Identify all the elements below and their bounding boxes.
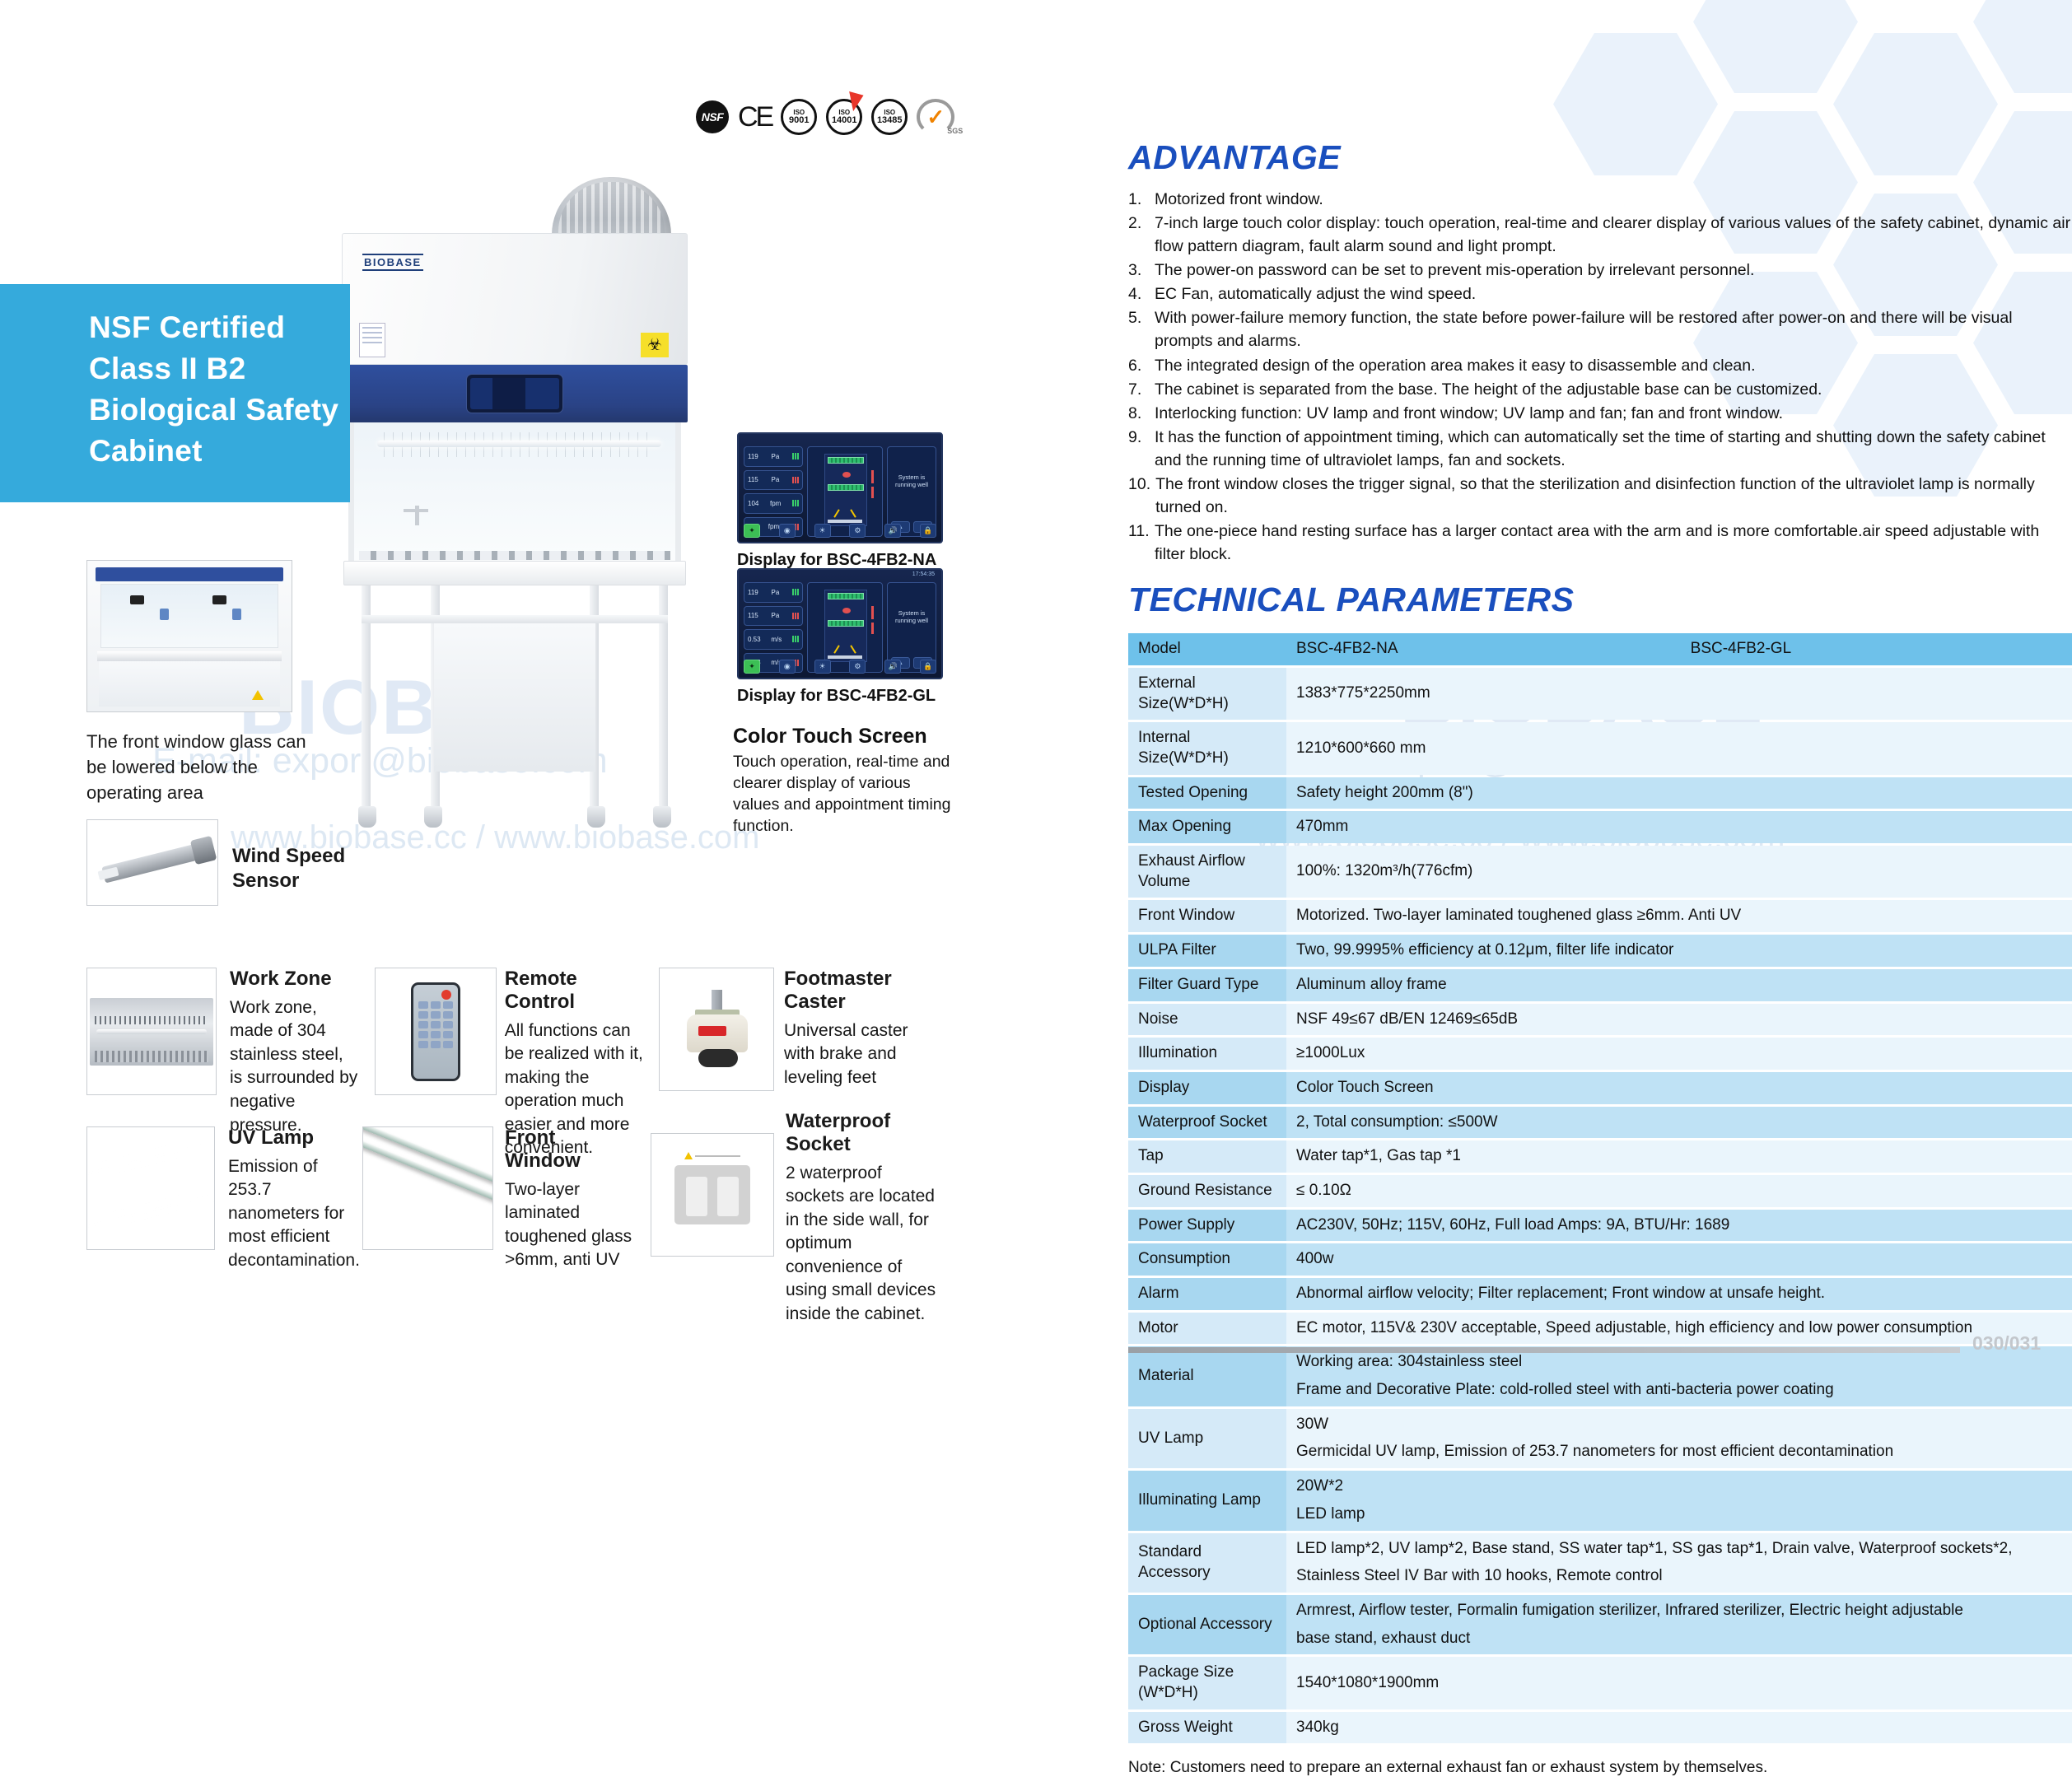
cabinet-control-band — [342, 365, 688, 422]
table-row: Front WindowMotorized. Two-layer laminat… — [1128, 900, 2072, 932]
work-zone-title: Work Zone — [230, 968, 358, 991]
feature-waterproof-socket: Waterproof Socket 2 waterproof sockets a… — [651, 1110, 939, 1326]
table-row: Filter Guard TypeAluminum alloy frame — [1128, 969, 2072, 1001]
spec-value: Aluminum alloy frame — [1286, 969, 2072, 1001]
uv-icon[interactable]: ☀ — [814, 524, 831, 538]
advantage-list: 1.Motorized front window. 2.7-inch large… — [1128, 188, 2072, 566]
advantage-item: 11.The one-piece hand resting surface ha… — [1128, 520, 2072, 566]
spec-value: Water tap*1, Gas tap *1 — [1286, 1140, 2072, 1173]
hero-line-1: NSF Certified — [89, 307, 350, 348]
feature-front-window: Front Window Two-layer laminated toughen… — [362, 1126, 634, 1272]
table-header-row: Model BSC-4FB2-NA BSC-4FB2-GL — [1128, 633, 2072, 665]
table-row: Waterproof Socket2, Total consumption: ≤… — [1128, 1107, 2072, 1139]
work-zone-text: Work zone, made of 304 stainless steel, … — [230, 996, 358, 1137]
display-gl-caption: Display for BSC-4FB2-GL — [737, 687, 943, 706]
remote-control-title: Remote Control — [505, 968, 646, 1014]
caster-wheel — [653, 806, 671, 828]
spec-key: Gross Weight — [1128, 1712, 1286, 1744]
lamp-icon[interactable]: ◉ — [779, 524, 796, 538]
advantage-item-number: 11. — [1128, 520, 1150, 566]
table-row: NoiseNSF 49≤67 dB/EN 12469≤65dB — [1128, 1004, 2072, 1036]
spec-key: Internal Size(W*D*H) — [1128, 722, 1286, 774]
certification-badges: NSF CE ISO 9001 ISO 14001 ISO 13485 ✓ SG… — [696, 99, 954, 135]
feature-work-zone: Work Zone Work zone, made of 304 stainle… — [86, 968, 358, 1137]
speaker-icon[interactable]: 🔊 — [884, 660, 901, 674]
lock-icon[interactable]: 🔒 — [920, 524, 936, 538]
display-panel-gl: 17:54:35 119 Pa 115 Pa 0.53 m/s — [737, 568, 943, 706]
spec-value: LED lamp*2, UV lamp*2, Base stand, SS wa… — [1286, 1533, 2072, 1593]
warning-triangle-icon — [684, 1152, 693, 1159]
uv-icon[interactable]: ☀ — [814, 660, 831, 674]
advantage-item-text: With power-failure memory function, the … — [1155, 306, 2072, 352]
spec-key: Tap — [1128, 1140, 1286, 1173]
header-model-na: BSC-4FB2-NA — [1286, 633, 1681, 665]
spec-value: 100%: 1320m³/h(776cfm) — [1286, 846, 2072, 898]
table-row: Max Opening470mm — [1128, 811, 2072, 843]
spec-key: Motor — [1128, 1313, 1286, 1345]
advantage-item-number: 5. — [1128, 306, 1150, 352]
waterproof-socket-thumbnail — [651, 1133, 774, 1257]
table-row: Material Working area: 304stainless stee… — [1128, 1346, 2072, 1406]
color-touch-screen-title: Color Touch Screen — [733, 725, 951, 749]
spec-value: 470mm — [1286, 811, 2072, 843]
nsf-icon: NSF — [696, 100, 729, 133]
remote-power-icon — [441, 990, 451, 1000]
settings-icon[interactable]: ⚙ — [849, 660, 866, 674]
settings-icon[interactable]: ⚙ — [849, 524, 866, 538]
sgs-label: SGS — [947, 127, 963, 135]
technical-heading: TECHNICAL PARAMETERS — [1128, 581, 2072, 619]
iso-14001-icon: ISO 14001 — [826, 99, 862, 135]
spec-key: Power Supply — [1128, 1210, 1286, 1242]
wind-speed-sensor-photo — [86, 819, 218, 906]
table-row: External Size(W*D*H)1383*775*2250mm — [1128, 668, 2072, 720]
table-row: Standard Accessory LED lamp*2, UV lamp*2… — [1128, 1533, 2072, 1593]
readout-gl-2-value: 115 — [748, 612, 758, 619]
readout-na-3-unit: fpm — [770, 500, 781, 507]
advantage-heading: ADVANTAGE — [1128, 138, 2072, 177]
sgs-icon: ✓ SGS — [917, 99, 954, 135]
advantage-item: 1.Motorized front window. — [1128, 188, 2072, 211]
readout-na-1-value: 119 — [748, 453, 758, 460]
spec-value: 20W*2 LED lamp — [1286, 1471, 2072, 1530]
readout-na-2-unit: Pa — [771, 476, 779, 483]
advantage-item-number: 1. — [1128, 188, 1150, 211]
spec-value: 1210*600*660 mm — [1286, 722, 2072, 774]
table-row: Illuminating Lamp 20W*2 LED lamp — [1128, 1471, 2072, 1530]
uv-lamp-thumbnail — [86, 1126, 215, 1250]
readout-gl-1-value: 119 — [748, 589, 758, 596]
advantage-item: 8.Interlocking function: UV lamp and fro… — [1128, 402, 2072, 425]
advantage-item-text: The cabinet is separated from the base. … — [1155, 378, 2072, 401]
table-row: UV Lamp 30W Germicidal UV lamp, Emission… — [1128, 1409, 2072, 1468]
spec-value-line-2: Frame and Decorative Plate: cold-rolled … — [1296, 1380, 2062, 1401]
readout-gl-2: 115 Pa — [744, 606, 803, 627]
readout-gl-3-value: 0.53 — [748, 636, 761, 643]
screen-gl: 17:54:35 119 Pa 115 Pa 0.53 m/s — [737, 568, 943, 679]
table-row: Gross Weight340kg — [1128, 1712, 2072, 1744]
advantage-item-number: 4. — [1128, 282, 1150, 305]
spec-value: Two, 99.9995% efficiency at 0.12μm, filt… — [1286, 935, 2072, 967]
readout-na-2-value: 115 — [748, 476, 758, 483]
spec-value: Safety height 200mm (8") — [1286, 777, 2072, 809]
spec-key: Optional Accessory — [1128, 1595, 1286, 1654]
spec-key: Consumption — [1128, 1243, 1286, 1276]
advantage-item: 5.With power-failure memory function, th… — [1128, 306, 2072, 352]
spec-value: Armrest, Airflow tester, Formalin fumiga… — [1286, 1595, 2072, 1654]
feature-footmaster-caster: Footmaster Caster Universal caster with … — [659, 968, 931, 1091]
technical-note: Note: Customers need to prepare an exter… — [1128, 1759, 2072, 1777]
cabinet-touch-panel — [466, 374, 563, 413]
footmaster-caster-title: Footmaster Caster — [784, 968, 922, 1014]
screen-na: 119 Pa 115 Pa 104 fpm 65 fpm — [737, 432, 943, 543]
advantage-item: 7.The cabinet is separated from the base… — [1128, 378, 2072, 401]
hero-title-banner: NSF Certified Class II B2 Biological Saf… — [0, 284, 350, 502]
front-window-thumbnail — [362, 1126, 493, 1250]
page-number: 030/031 — [1972, 1332, 2041, 1355]
color-touch-screen-block: Color Touch Screen Touch operation, real… — [733, 725, 951, 837]
remote-control-thumbnail — [375, 968, 497, 1095]
spec-value-line-2: base stand, exhaust duct — [1296, 1629, 2062, 1649]
advantage-item: 4.EC Fan, automatically adjust the wind … — [1128, 282, 2072, 305]
left-column: NSF CE ISO 9001 ISO 14001 ISO 13485 ✓ SG… — [0, 0, 1104, 1416]
spec-value-line-2: Germicidal UV lamp, Emission of 253.7 na… — [1296, 1442, 2062, 1462]
spec-value-line-2: LED lamp — [1296, 1504, 2062, 1525]
table-row: ULPA FilterTwo, 99.9995% efficiency at 0… — [1128, 935, 2072, 967]
waterproof-socket-text: 2 waterproof sockets are located in the … — [786, 1162, 939, 1327]
table-row: Optional Accessory Armrest, Airflow test… — [1128, 1595, 2072, 1654]
advantage-item-text: The front window closes the trigger sign… — [1155, 473, 2072, 519]
advantage-item-number: 7. — [1128, 378, 1150, 401]
spec-key: Alarm — [1128, 1278, 1286, 1310]
spec-key: Exhaust Airflow Volume — [1128, 846, 1286, 898]
spec-key: Noise — [1128, 1004, 1286, 1036]
technical-parameters-table: Model BSC-4FB2-NA BSC-4FB2-GL External S… — [1128, 631, 2072, 1746]
caster-wheel — [358, 806, 376, 828]
table-row: Illumination≥1000Lux — [1128, 1038, 2072, 1070]
iso-9001-icon: ISO 9001 — [781, 99, 817, 135]
spec-key: ULPA Filter — [1128, 935, 1286, 967]
spec-value: EC motor, 115V& 230V acceptable, Speed a… — [1286, 1313, 2072, 1345]
status-text-gl: System is running well — [891, 609, 932, 624]
spec-value-line-2: Stainless Steel IV Bar with 10 hooks, Re… — [1296, 1566, 2062, 1587]
spec-key: Tested Opening — [1128, 777, 1286, 809]
spec-value-line-1: Armrest, Airflow tester, Formalin fumiga… — [1296, 1601, 2062, 1621]
spec-value: 1383*775*2250mm — [1286, 668, 2072, 720]
clock-gl: 17:54:35 — [912, 571, 935, 577]
table-row: Tested OpeningSafety height 200mm (8") — [1128, 777, 2072, 809]
hero-line-2: Class II B2 — [89, 348, 350, 389]
readout-na-1-unit: Pa — [771, 453, 779, 460]
spec-value: 340kg — [1286, 1712, 2072, 1744]
advantage-item: 6.The integrated design of the operation… — [1128, 354, 2072, 377]
cabinet-uv-tube — [377, 441, 661, 447]
advantage-item: 2.7-inch large touch color display: touc… — [1128, 212, 2072, 258]
advantage-item-text: The integrated design of the operation a… — [1155, 354, 2072, 377]
wind-speed-sensor-title: Wind Speed Sensor — [232, 844, 397, 893]
spec-label-plate — [359, 323, 385, 357]
advantage-item: 10.The front window closes the trigger s… — [1128, 473, 2072, 519]
taskbar-gl: ✦ ◉ ☀ ⚙ 🔊 🔒 — [744, 658, 936, 674]
advantage-item-number: 10. — [1128, 473, 1150, 519]
readout-gl-1: 119 Pa — [744, 582, 803, 603]
advantage-item-text: It has the function of appointment timin… — [1155, 426, 2072, 472]
advantage-item-text: EC Fan, automatically adjust the wind sp… — [1155, 282, 2072, 305]
ce-icon: CE — [738, 101, 772, 133]
footmaster-caster-text: Universal caster with brake and leveling… — [784, 1019, 922, 1090]
feature-uv-lamp: UV Lamp Emission of 253.7 nanometers for… — [86, 1126, 358, 1273]
product-image-cabinet: BIOBASE ☣ — [325, 177, 712, 861]
advantage-item-number: 2. — [1128, 212, 1150, 258]
front-window-text: Two-layer laminated toughened glass >6mm… — [505, 1178, 634, 1272]
spec-value: Abnormal airflow velocity; Filter replac… — [1286, 1278, 2072, 1310]
spec-value-line-1: 20W*2 — [1296, 1476, 2062, 1497]
spec-key: Standard Accessory — [1128, 1533, 1286, 1593]
spec-value: ≤ 0.10Ω — [1286, 1175, 2072, 1207]
fan-icon[interactable]: ✦ — [744, 660, 760, 674]
table-row: Package Size (W*D*H)1540*1080*1900mm — [1128, 1657, 2072, 1709]
spec-value-line-1: Working area: 304stainless steel — [1296, 1352, 2062, 1373]
advantage-item-text: Interlocking function: UV lamp and front… — [1155, 402, 2072, 425]
spec-key: Material — [1128, 1346, 1286, 1406]
cabinet-worktop — [343, 561, 686, 585]
display-panel-na: 119 Pa 115 Pa 104 fpm 65 fpm — [737, 432, 943, 570]
spec-key: Filter Guard Type — [1128, 969, 1286, 1001]
uv-lamp-title: UV Lamp — [228, 1126, 358, 1150]
table-row: TapWater tap*1, Gas tap *1 — [1128, 1140, 2072, 1173]
table-row: Consumption400w — [1128, 1243, 2072, 1276]
header-model-label: Model — [1128, 633, 1286, 665]
lowered-window-caption: The front window glass can be lowered be… — [86, 729, 325, 806]
table-row: Internal Size(W*D*H)1210*600*660 mm — [1128, 722, 2072, 774]
table-row: Exhaust Airflow Volume100%: 1320m³/h(776… — [1128, 846, 2072, 898]
spec-key: Display — [1128, 1072, 1286, 1104]
cabinet-tap — [404, 506, 441, 529]
cabinet-upper-body: BIOBASE ☣ — [342, 233, 688, 365]
spec-value: 30W Germicidal UV lamp, Emission of 253.… — [1286, 1409, 2072, 1468]
spec-value: ≥1000Lux — [1286, 1038, 2072, 1070]
advantage-item-text: Motorized front window. — [1155, 188, 2072, 211]
hero-line-3: Biological Safety — [89, 389, 350, 431]
caster-wheel — [424, 806, 442, 828]
spec-value: Color Touch Screen — [1286, 1072, 2072, 1104]
advantage-item: 3.The power-on password can be set to pr… — [1128, 259, 2072, 282]
table-row: MotorEC motor, 115V& 230V acceptable, Sp… — [1128, 1313, 2072, 1345]
iso-9001-num: 9001 — [789, 116, 809, 125]
readout-na-3-value: 104 — [748, 500, 758, 507]
advantage-item-number: 9. — [1128, 426, 1150, 472]
table-row: AlarmAbnormal airflow velocity; Filter r… — [1128, 1278, 2072, 1310]
header-model-gl: BSC-4FB2-GL — [1681, 633, 2072, 665]
spec-key: Illumination — [1128, 1038, 1286, 1070]
footmaster-caster-thumbnail — [659, 968, 774, 1091]
spec-value: Motorized. Two-layer laminated toughened… — [1286, 900, 2072, 932]
hero-line-4: Cabinet — [89, 431, 350, 472]
readout-na-2: 115 Pa — [744, 470, 803, 491]
fan-icon[interactable]: ✦ — [744, 524, 760, 538]
readout-na-3: 104 fpm — [744, 493, 803, 514]
iso-13485-num: 13485 — [877, 116, 903, 125]
display-na-caption: Display for BSC-4FB2-NA — [737, 551, 943, 570]
spec-value: NSF 49≤67 dB/EN 12469≤65dB — [1286, 1004, 2072, 1036]
uv-lamp-text: Emission of 253.7 nanometers for most ef… — [228, 1155, 358, 1273]
readout-gl-3-unit: m/s — [771, 636, 782, 643]
work-zone-thumbnail — [86, 968, 217, 1095]
iso-13485-icon: ISO 13485 — [871, 99, 908, 135]
spec-key: Package Size (W*D*H) — [1128, 1657, 1286, 1709]
cabinet-front-window — [348, 422, 681, 567]
spec-key: UV Lamp — [1128, 1409, 1286, 1468]
readout-na-1: 119 Pa — [744, 446, 803, 467]
warning-triangle-icon — [252, 690, 264, 700]
spec-value: AC230V, 50Hz; 115V, 60Hz, Full load Amps… — [1286, 1210, 2072, 1242]
spec-key: Waterproof Socket — [1128, 1107, 1286, 1139]
status-text-na: System is running well — [891, 473, 932, 488]
lowered-window-photo — [86, 560, 292, 712]
advantage-item-text: 7-inch large touch color display: touch … — [1155, 212, 2072, 258]
readout-gl-3: 0.53 m/s — [744, 629, 803, 650]
lamp-icon[interactable]: ◉ — [779, 660, 796, 674]
spec-key: External Size(W*D*H) — [1128, 668, 1286, 720]
readout-gl-1-unit: Pa — [771, 589, 779, 596]
cabinet-base-stand — [358, 585, 671, 833]
spec-value-line-1: LED lamp*2, UV lamp*2, Base stand, SS wa… — [1296, 1539, 2062, 1560]
advantage-item: 9.It has the function of appointment tim… — [1128, 426, 2072, 472]
spec-key: Front Window — [1128, 900, 1286, 932]
spec-value: Working area: 304stainless steel Frame a… — [1286, 1346, 2072, 1406]
iso-14001-num: 14001 — [832, 116, 857, 125]
caster-wheel — [587, 806, 605, 828]
speaker-icon[interactable]: 🔊 — [884, 524, 901, 538]
readout-gl-2-unit: Pa — [771, 612, 779, 619]
spec-value: 1540*1080*1900mm — [1286, 1657, 2072, 1709]
advantage-item-number: 8. — [1128, 402, 1150, 425]
footer-rule — [1128, 1347, 1960, 1353]
spec-value: 400w — [1286, 1243, 2072, 1276]
biohazard-icon: ☣ — [641, 333, 669, 357]
table-row: Power SupplyAC230V, 50Hz; 115V, 60Hz, Fu… — [1128, 1210, 2072, 1242]
advantage-item-text: The power-on password can be set to prev… — [1155, 259, 2072, 282]
spec-value-line-1: 30W — [1296, 1415, 2062, 1435]
biobase-logo: BIOBASE — [362, 254, 423, 271]
waterproof-socket-title: Waterproof Socket — [786, 1110, 939, 1156]
color-touch-screen-text: Touch operation, real-time and clearer d… — [733, 752, 951, 837]
right-column: ADVANTAGE 1.Motorized front window. 2.7-… — [1128, 0, 2072, 1777]
table-row: Ground Resistance≤ 0.10Ω — [1128, 1175, 2072, 1207]
spec-value: 2, Total consumption: ≤500W — [1286, 1107, 2072, 1139]
table-row: DisplayColor Touch Screen — [1128, 1072, 2072, 1104]
front-window-title: Front Window — [505, 1126, 634, 1173]
lock-icon[interactable]: 🔒 — [920, 660, 936, 674]
spec-key: Illuminating Lamp — [1128, 1471, 1286, 1530]
advantage-item-text: The one-piece hand resting surface has a… — [1155, 520, 2072, 566]
advantage-item-number: 6. — [1128, 354, 1150, 377]
taskbar-na: ✦ ◉ ☀ ⚙ 🔊 🔒 — [744, 522, 936, 539]
advantage-item-number: 3. — [1128, 259, 1150, 282]
spec-key: Max Opening — [1128, 811, 1286, 843]
spec-key: Ground Resistance — [1128, 1175, 1286, 1207]
